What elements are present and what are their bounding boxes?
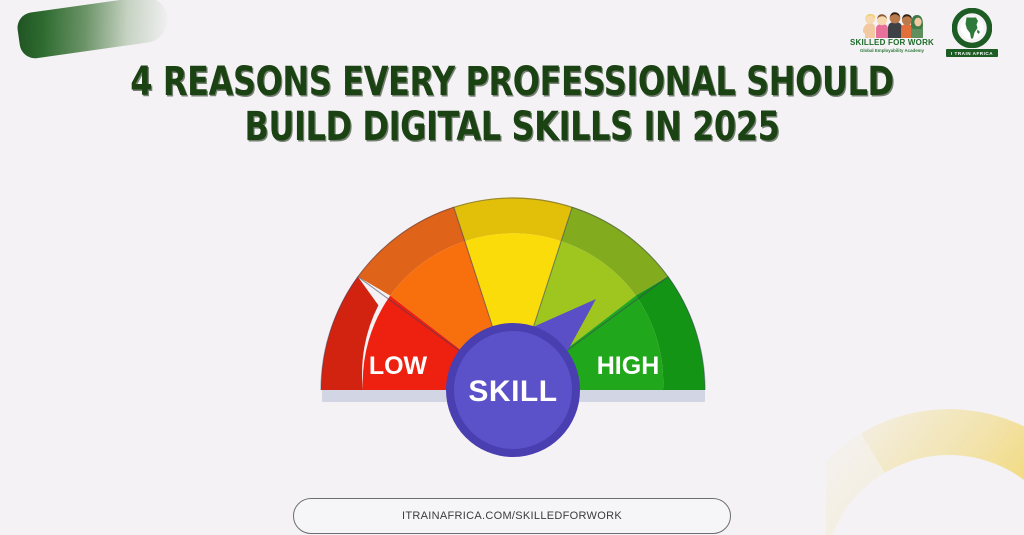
gauge-center-label: SKILL [468, 375, 557, 408]
gauge-inner-segment-high [513, 241, 636, 390]
page-title: 4 REASONS EVERY PROFESSIONAL SHOULD BUIL… [102, 60, 921, 150]
decorative-yellow-swoosh-arc [826, 387, 1024, 535]
gauge-outer-segment-medium [454, 197, 573, 241]
gauge-inner-segment-very-high [513, 296, 663, 390]
decorative-green-swoosh [16, 0, 171, 60]
gauge-outer-edge [321, 198, 705, 390]
gauge-hub-ring [446, 323, 580, 457]
gauge-outer-segment-low [358, 207, 466, 296]
gauge-inner-segment-medium [465, 233, 561, 390]
gauge-base-bar [322, 390, 705, 402]
gauge-needle-body [513, 299, 596, 390]
page-title-line-2: BUILD DIGITAL SKILLS IN 2025 [102, 105, 921, 150]
graphic-canvas: SKILLED FOR WORK Global Employability Ac… [0, 0, 1024, 535]
gauge-needle [524, 299, 596, 359]
footer-url-text: ITRAINAFRICA.COM/SKILLEDFORWORK [402, 510, 622, 522]
logo-skilled-for-work: SKILLED FOR WORK Global Employability Ac… [856, 12, 928, 53]
logo-i-train-africa-title: I TRAIN AFRICA [946, 49, 998, 57]
gauge-outer-segment-very-low [321, 277, 378, 391]
gauge-outer-ring [321, 197, 705, 390]
gauge-hub [454, 331, 572, 449]
gauge-outer-segment-very-high [636, 277, 705, 391]
logo-skilled-for-work-title: SKILLED FOR WORK [850, 39, 934, 47]
gauge-inner-segment-very-low [363, 296, 513, 390]
logo-skilled-for-work-subtitle: Global Employability Academy [860, 48, 924, 53]
logo-row: SKILLED FOR WORK Global Employability Ac… [856, 8, 1000, 57]
page-title-line-1: 4 REASONS EVERY PROFESSIONAL SHOULD [102, 60, 921, 105]
gauge-segment-dividers [358, 207, 669, 390]
footer-url-pill[interactable]: ITRAINAFRICA.COM/SKILLEDFORWORK [293, 498, 731, 534]
decorative-yellow-swoosh [826, 387, 1024, 535]
gauge-low-label: LOW [369, 352, 428, 380]
logo-i-train-africa: I TRAIN AFRICA [944, 8, 1000, 57]
gauge-inner-ring [363, 233, 663, 390]
gauge-outer-segment-high [561, 207, 669, 296]
group-of-people-icon [861, 12, 923, 38]
africa-map-in-circle-icon [952, 8, 992, 48]
gauge-inner-segment-low [390, 241, 513, 390]
gauge-high-label: HIGH [597, 352, 660, 380]
